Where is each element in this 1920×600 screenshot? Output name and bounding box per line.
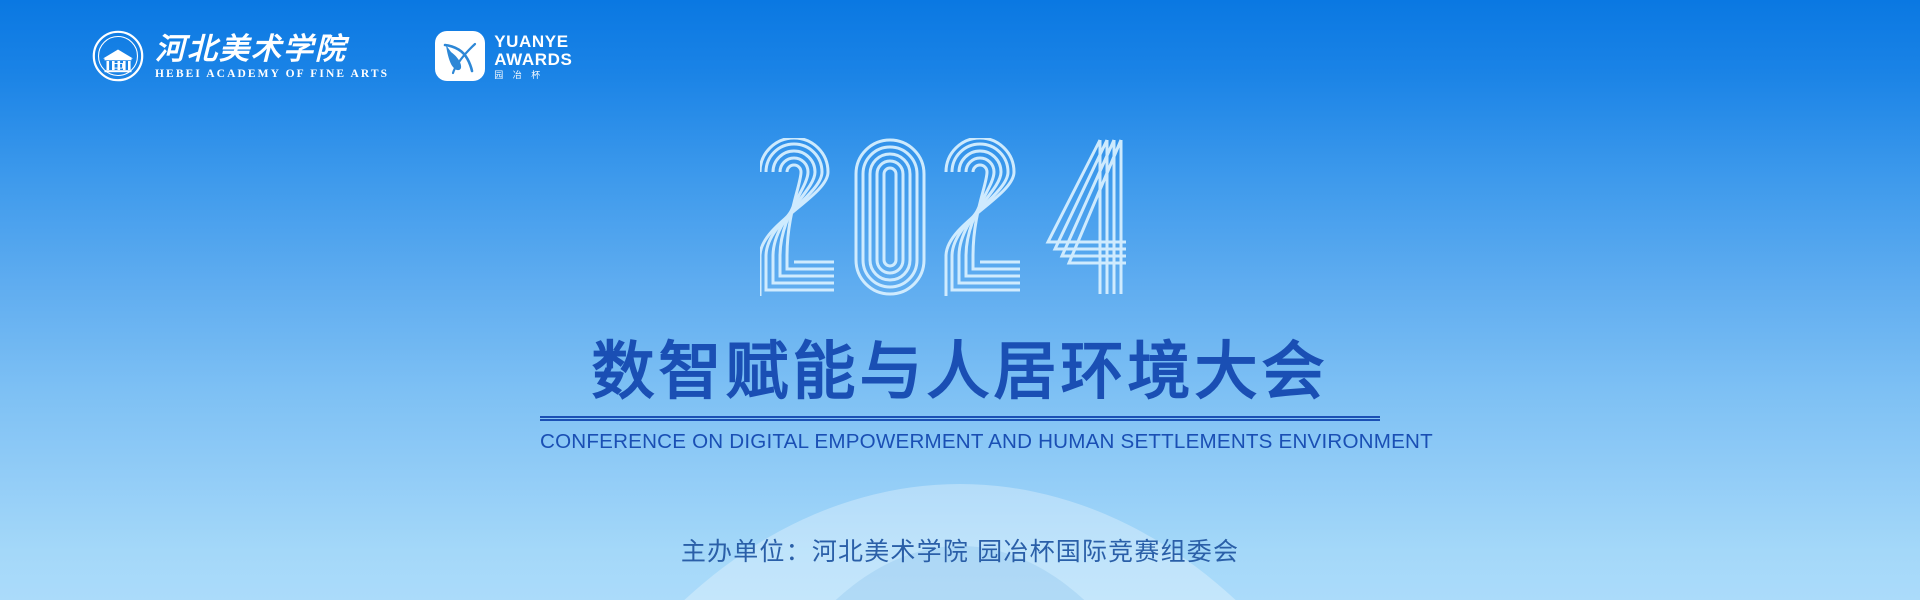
hebei-academy-wordmark: 河北美术学院 HEBEI ACADEMY OF FINE ARTS (155, 32, 389, 81)
organizer-line: 主办单位：河北美术学院 园冶杯国际竞赛组委会 (681, 532, 1239, 568)
yuanye-leaf-mark-icon (435, 31, 485, 81)
yuanye-wordmark: YUANYE AWARDS 园 冶 杯 (494, 33, 572, 80)
logo-hebei-academy[interactable]: 河北美术学院 HEBEI ACADEMY OF FINE ARTS (92, 30, 389, 82)
conference-title-english: CONFERENCE ON DIGITAL EMPOWERMENT AND HU… (540, 430, 1380, 454)
yuanye-line-1: YUANYE (494, 33, 572, 50)
yuanye-line-2: AWARDS (494, 51, 572, 68)
conference-title-chinese: 数智赋能与人居环境大会 (540, 340, 1380, 404)
hebei-academy-chinese-name: 河北美术学院 (155, 32, 389, 66)
yuanye-chinese-name: 园 冶 杯 (494, 71, 572, 80)
conference-banner: 河北美术学院 HEBEI ACADEMY OF FINE ARTS YUANYE… (0, 0, 1920, 600)
logo-yuanye-awards[interactable]: YUANYE AWARDS 园 冶 杯 (435, 31, 572, 81)
title-block: 数智赋能与人居环境大会 CONFERENCE ON DIGITAL EMPOWE… (540, 340, 1380, 454)
logo-row: 河北美术学院 HEBEI ACADEMY OF FINE ARTS YUANYE… (92, 30, 572, 82)
title-divider-rule (540, 416, 1380, 421)
year-2024-graphic (760, 138, 1160, 296)
hebei-academy-english-name: HEBEI ACADEMY OF FINE ARTS (155, 69, 389, 81)
background-arc-decoration (0, 0, 1920, 600)
svg-text:河北美术学院: 河北美术学院 (155, 32, 350, 66)
circular-gate-emblem-icon (92, 30, 144, 82)
